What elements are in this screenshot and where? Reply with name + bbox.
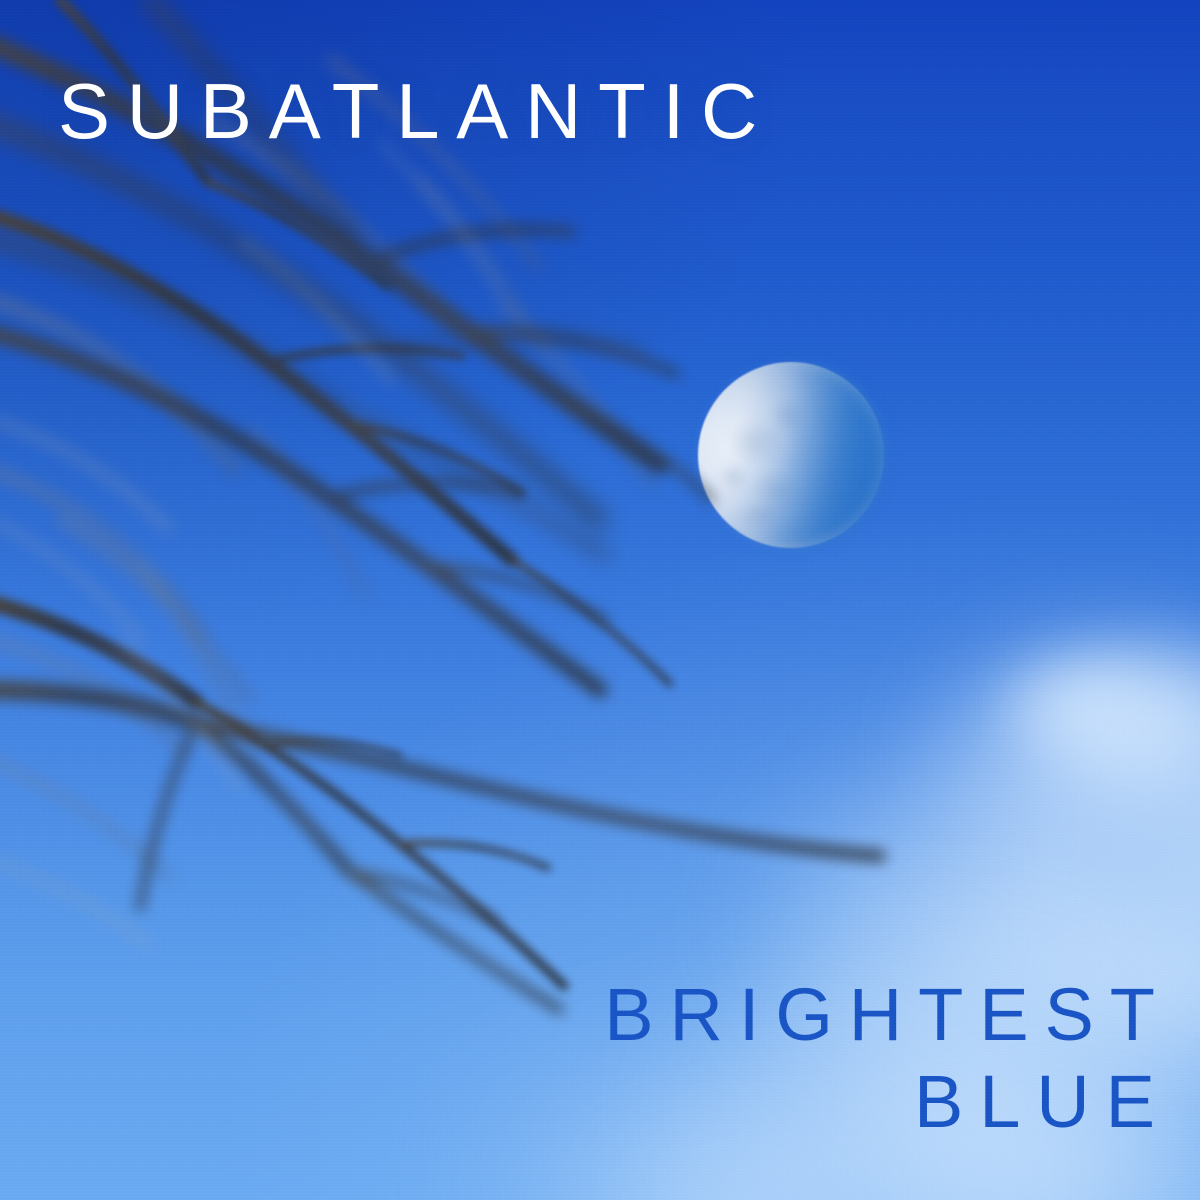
album-title-line-2: BLUE	[255, 1059, 1171, 1146]
album-title-line-1: BRIGHTEST	[255, 972, 1171, 1059]
artist-name: SUBATLANTIC	[58, 72, 774, 150]
album-title: BRIGHTEST BLUE	[255, 972, 1155, 1145]
album-cover: SUBATLANTIC BRIGHTEST BLUE	[0, 0, 1200, 1200]
